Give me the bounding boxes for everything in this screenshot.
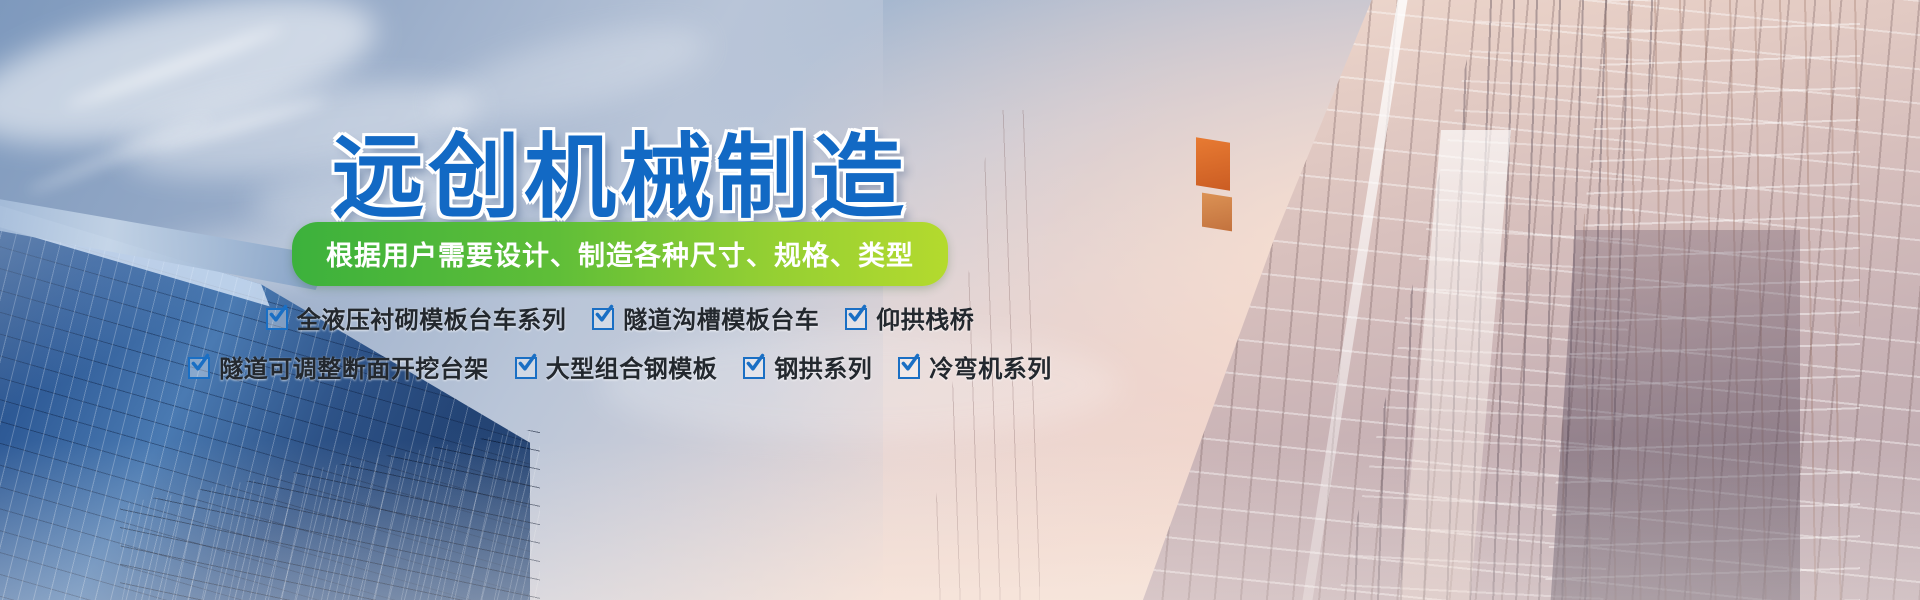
- checkbox-checked-icon: [266, 307, 288, 329]
- feature-row: 隧道可调整断面开挖台架 大型组合钢模板 钢拱系列: [0, 349, 1240, 384]
- checkbox-checked-icon: [743, 356, 765, 378]
- list-item-label: 仰拱栈桥: [876, 300, 974, 335]
- list-item-label: 全液压衬砌模板台车系列: [297, 300, 567, 335]
- page-title: 远创机械制造: [0, 132, 1240, 224]
- list-item[interactable]: 隧道沟槽模板台车: [592, 300, 819, 335]
- list-item[interactable]: 钢拱系列: [743, 349, 872, 384]
- banner-content: 远创机械制造 根据用户需要设计、制造各种尺寸、规格、类型 全液压衬砌模板台车系列: [0, 0, 1920, 600]
- list-item-label: 隧道沟槽模板台车: [623, 300, 819, 335]
- list-item[interactable]: 隧道可调整断面开挖台架: [188, 349, 489, 384]
- subtitle-container: 根据用户需要设计、制造各种尺寸、规格、类型: [0, 222, 1240, 286]
- hero-banner: 远创机械制造 根据用户需要设计、制造各种尺寸、规格、类型 全液压衬砌模板台车系列: [0, 0, 1920, 600]
- list-item-label: 钢拱系列: [774, 349, 872, 384]
- checkbox-checked-icon: [515, 356, 537, 378]
- checkbox-checked-icon: [592, 307, 614, 329]
- list-item-label: 大型组合钢模板: [546, 349, 718, 384]
- list-item[interactable]: 仰拱栈桥: [845, 300, 974, 335]
- feature-row: 全液压衬砌模板台车系列 隧道沟槽模板台车 仰拱栈桥: [0, 300, 1240, 335]
- list-item-label: 冷弯机系列: [929, 349, 1052, 384]
- list-item[interactable]: 大型组合钢模板: [515, 349, 718, 384]
- list-item-label: 隧道可调整断面开挖台架: [219, 349, 489, 384]
- checkbox-checked-icon: [845, 307, 867, 329]
- checkbox-checked-icon: [188, 356, 210, 378]
- subtitle-pill: 根据用户需要设计、制造各种尺寸、规格、类型: [292, 222, 948, 286]
- list-item[interactable]: 全液压衬砌模板台车系列: [266, 300, 567, 335]
- feature-list: 全液压衬砌模板台车系列 隧道沟槽模板台车 仰拱栈桥: [0, 300, 1240, 398]
- list-item[interactable]: 冷弯机系列: [898, 349, 1052, 384]
- checkbox-checked-icon: [898, 356, 920, 378]
